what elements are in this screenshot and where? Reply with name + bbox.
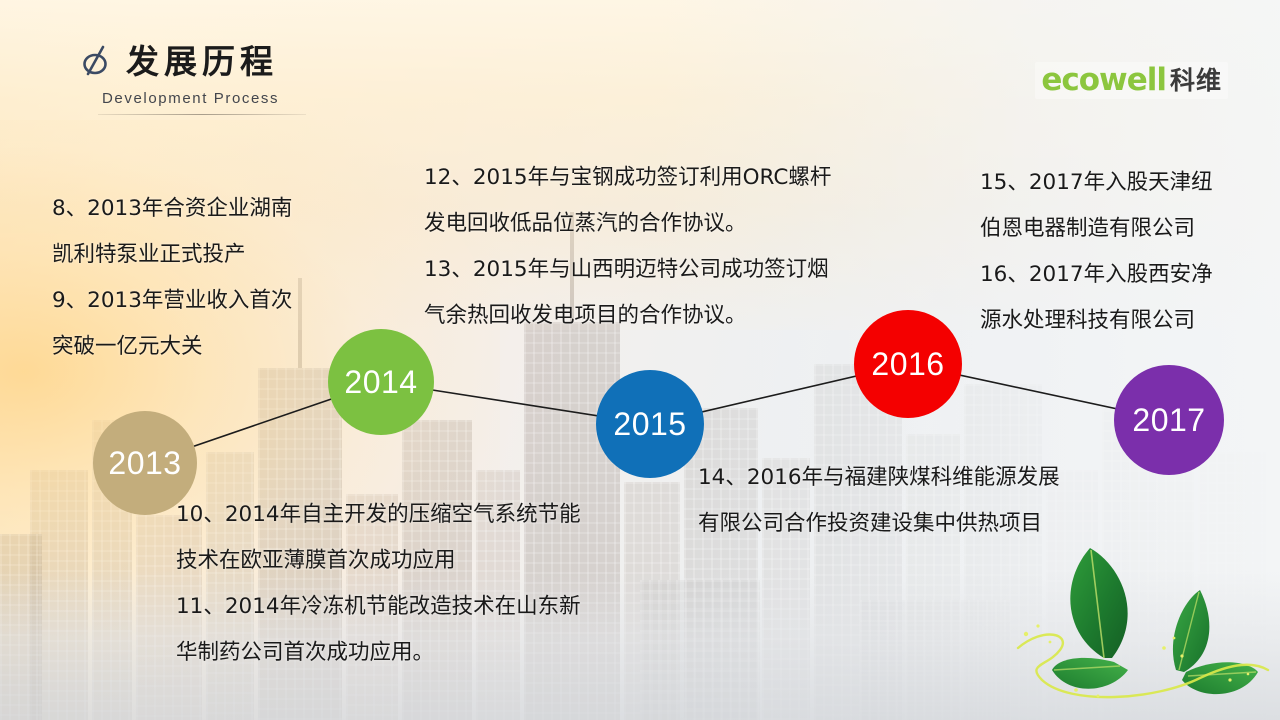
slide-canvas: 发展历程 Development Process ecowell 科维 2013…	[0, 0, 1280, 720]
timeline-node-label: 2015	[613, 406, 686, 443]
milestone-text-2013: 8、2013年合资企业湖南 凯利特泵业正式投产 9、2013年营业收入首次 突破…	[52, 186, 392, 370]
timeline-node-2015[interactable]: 2015	[596, 370, 704, 478]
green-leaves-icon	[986, 530, 1276, 720]
timeline-node-label: 2017	[1132, 402, 1205, 439]
timeline-node-label: 2013	[108, 445, 181, 482]
milestone-text-2017: 15、2017年入股天津纽 伯恩电器制造有限公司 16、2017年入股西安净 源…	[980, 160, 1270, 344]
milestone-text-2015: 12、2015年与宝钢成功签订利用ORC螺杆 发电回收低品位蒸汽的合作协议。 1…	[424, 155, 944, 339]
timeline-node-label: 2016	[871, 346, 944, 383]
milestone-text-2014: 10、2014年自主开发的压缩空气系统节能 技术在欧亚薄膜首次成功应用 11、2…	[176, 492, 696, 676]
